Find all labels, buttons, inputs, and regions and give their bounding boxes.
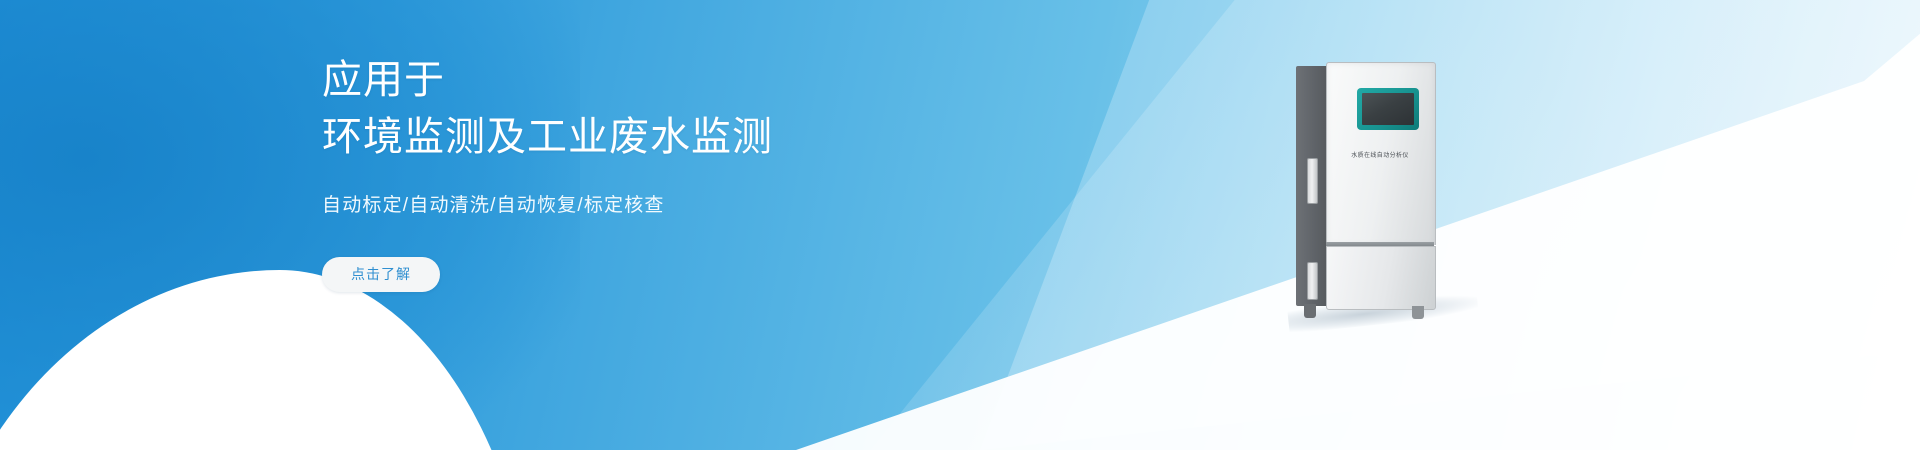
banner-copy-block: 应用于 环境监测及工业废水监测 自动标定/自动清洗/自动恢复/标定核查 点击了解	[322, 52, 962, 292]
device-lower-cabinet	[1326, 246, 1436, 310]
device-foot-left	[1304, 304, 1316, 318]
headline-line-2: 环境监测及工业废水监测	[322, 109, 962, 166]
lower-door-handle-icon	[1307, 262, 1318, 300]
device-label-text: 水质在线自动分析仪	[1329, 150, 1431, 159]
display-screen	[1362, 93, 1414, 125]
door-handle-icon	[1307, 158, 1318, 204]
device-screen-bezel	[1357, 88, 1419, 130]
headline-line-1: 应用于	[322, 52, 962, 109]
subheadline: 自动标定/自动清洗/自动恢复/标定核查	[322, 190, 962, 217]
device-side-panel	[1296, 66, 1330, 306]
hero-banner: 应用于 环境监测及工业废水监测 自动标定/自动清洗/自动恢复/标定核查 点击了解…	[0, 0, 1920, 450]
learn-more-button[interactable]: 点击了解	[322, 257, 440, 292]
device-foot-right	[1412, 306, 1424, 319]
water-quality-analyzer-image: 水质在线自动分析仪	[1296, 62, 1438, 314]
